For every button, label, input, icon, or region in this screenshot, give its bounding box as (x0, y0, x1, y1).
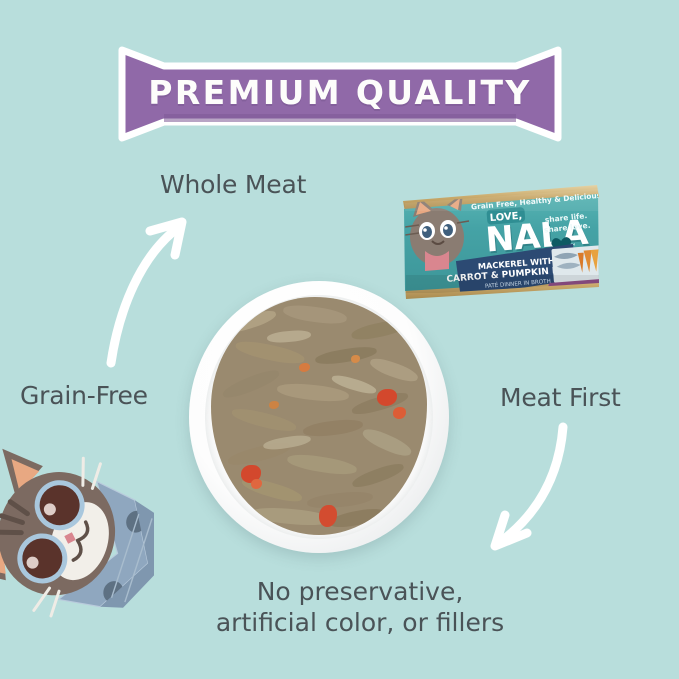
banner-title: PREMIUM QUALITY (118, 46, 562, 142)
feature-label-whole-meat: Whole Meat (160, 170, 306, 199)
nala-cat-mascot-illustration (0, 438, 154, 638)
plate-of-cat-food (189, 281, 449, 553)
feature-label-meat-first: Meat First (500, 383, 621, 412)
no-preservative-line-2: artificial color, or fillers (150, 607, 570, 638)
promo-infographic: PREMIUM QUALITY Whole Meat Grain-Free Me… (0, 0, 679, 679)
premium-quality-banner: PREMIUM QUALITY (118, 46, 562, 142)
no-preservative-line-1: No preservative, (150, 576, 570, 607)
feature-label-no-preservative: No preservative, artificial color, or fi… (150, 576, 570, 638)
product-can: Grain Free, Healthy & Delicious Adult Ca… (399, 181, 604, 307)
curved-arrow-down-left-icon (455, 415, 585, 560)
feature-label-grain-free: Grain-Free (20, 381, 148, 410)
